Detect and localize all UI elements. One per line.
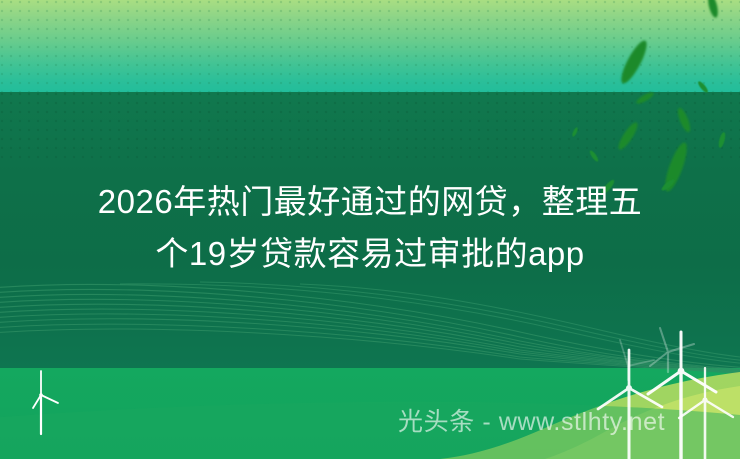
- wind-turbine-large-left: [679, 368, 733, 459]
- page-title: 2026年热门最好通过的网贷，整理五 个19岁贷款容易过审批的app: [0, 176, 740, 280]
- wind-turbine-silhouette: [650, 328, 694, 372]
- headline-line-1: 2026年热门最好通过的网贷，整理五: [0, 176, 740, 228]
- wind-turbine-small: [33, 371, 58, 434]
- promo-banner: 2026年热门最好通过的网贷，整理五 个19岁贷款容易过审批的app 光头条 -…: [0, 0, 740, 459]
- watermark-text: 光头条 - www.stlhty.net: [398, 405, 665, 439]
- headline-line-2: 个19岁贷款容易过审批的app: [0, 228, 740, 280]
